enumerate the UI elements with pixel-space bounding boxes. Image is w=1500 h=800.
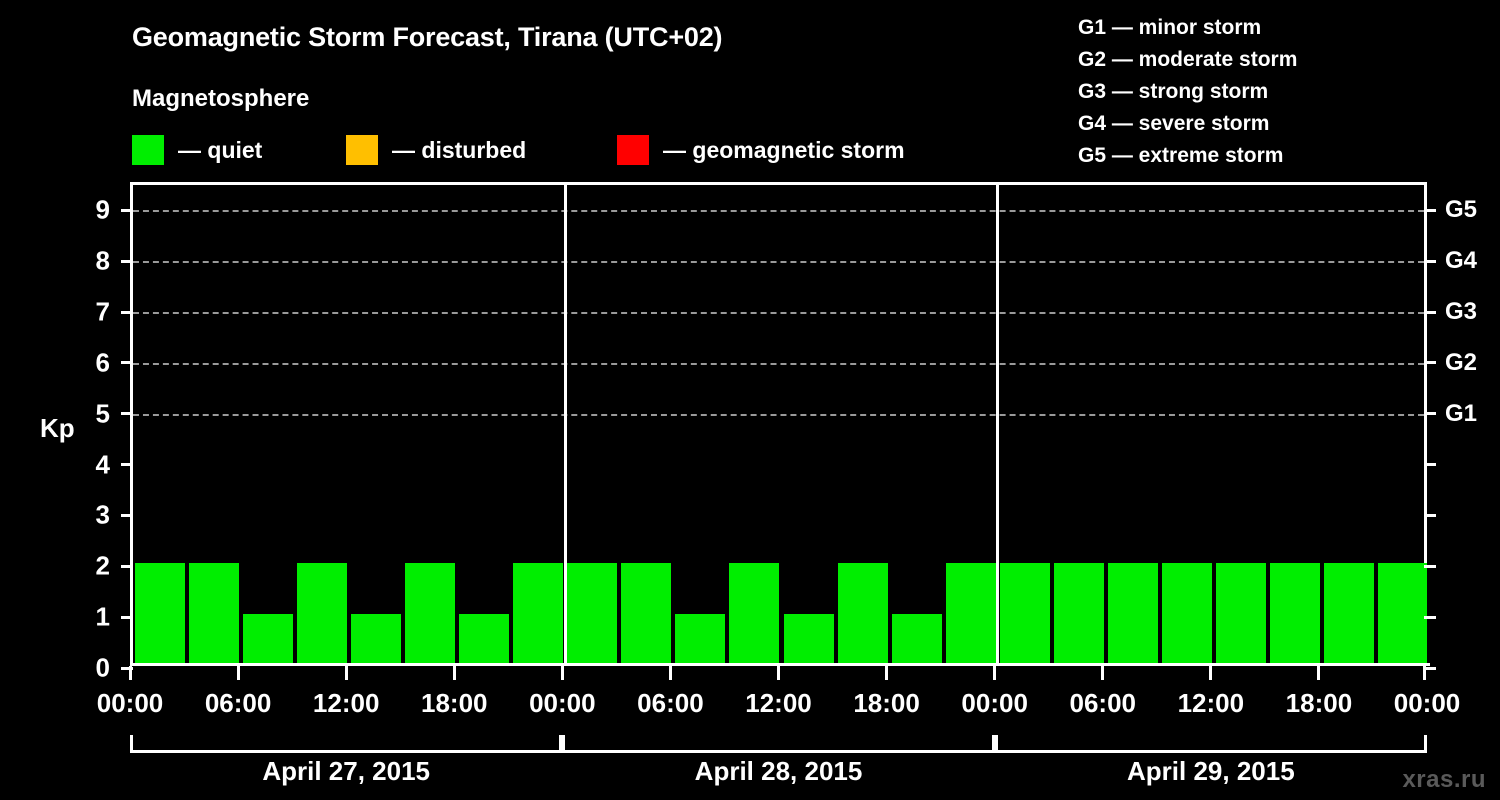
chart-canvas: Geomagnetic Storm Forecast, Tirana (UTC+… [0, 0, 1500, 800]
y-axis-label-3: 3 [70, 500, 110, 531]
y-tick-right-7 [1424, 311, 1436, 314]
x-axis-label-9: 06:00 [1070, 688, 1137, 719]
y-tick-right-2 [1424, 565, 1436, 568]
bar [405, 563, 455, 665]
bar [297, 563, 347, 665]
y-axis-label-1: 1 [70, 602, 110, 633]
y-tick-left-4 [121, 463, 133, 466]
bar [459, 614, 509, 665]
g-scale-legend: G1 — minor stormG2 — moderate stormG3 — … [1078, 12, 1297, 172]
bar [567, 563, 617, 665]
x-tick-5 [669, 666, 672, 680]
y2-axis-label-G5: G5 [1445, 196, 1500, 224]
g-scale-row-1: G1 — minor storm [1078, 12, 1297, 44]
day-bracket-1 [130, 735, 562, 753]
day-label-1: April 27, 2015 [262, 756, 430, 787]
g-scale-row-4: G4 — severe storm [1078, 108, 1297, 140]
day-bracket-2 [562, 735, 994, 753]
x-axis-label-0: 00:00 [97, 688, 164, 719]
x-axis-label-12: 00:00 [1394, 688, 1461, 719]
y-tick-right-6 [1424, 361, 1436, 364]
x-axis-label-2: 12:00 [313, 688, 380, 719]
y-axis-label-8: 8 [70, 246, 110, 277]
chart-subtitle: Magnetosphere [132, 85, 309, 113]
x-axis-label-6: 12:00 [745, 688, 812, 719]
bar [784, 614, 834, 665]
bar [1108, 563, 1158, 665]
x-axis-label-5: 06:00 [637, 688, 704, 719]
g-scale-row-3: G3 — strong storm [1078, 76, 1297, 108]
gridline-kp-6 [133, 363, 1424, 365]
day-label-2: April 28, 2015 [695, 756, 863, 787]
y-tick-right-9 [1424, 209, 1436, 212]
y-tick-left-8 [121, 260, 133, 263]
x-axis-label-1: 06:00 [205, 688, 272, 719]
bar [1162, 563, 1212, 665]
y-axis-label-9: 9 [70, 195, 110, 226]
g-scale-row-5: G5 — extreme storm [1078, 140, 1297, 172]
green-square-swatch [132, 135, 164, 165]
bar [135, 563, 185, 665]
gridline-kp-7 [133, 312, 1424, 314]
bar-series [133, 185, 1424, 665]
x-axis-label-4: 00:00 [529, 688, 596, 719]
bar [1324, 563, 1374, 665]
x-tick-11 [1317, 666, 1320, 680]
x-tick-3 [453, 666, 456, 680]
bar [892, 614, 942, 665]
x-axis-label-10: 12:00 [1178, 688, 1245, 719]
bar [621, 563, 671, 665]
y-axis-label-0: 0 [70, 653, 110, 684]
x-tick-1 [237, 666, 240, 680]
bar [729, 563, 779, 665]
day-bracket-3 [995, 735, 1427, 753]
x-tick-9 [1101, 666, 1104, 680]
x-tick-8 [993, 666, 996, 680]
watermark: xras.ru [1402, 766, 1486, 794]
y-tick-right-3 [1424, 514, 1436, 517]
bar [1378, 563, 1427, 665]
y2-axis-label-G1: G1 [1445, 400, 1500, 428]
day-divider-2 [996, 185, 999, 665]
gridline-kp-8 [133, 261, 1424, 263]
amber-square-swatch [346, 135, 378, 165]
bar [1000, 563, 1050, 665]
bar [189, 563, 239, 665]
g-scale-row-2: G2 — moderate storm [1078, 44, 1297, 76]
y-axis-label-7: 7 [70, 297, 110, 328]
red-square-swatch [617, 135, 649, 165]
bar [946, 563, 996, 665]
y-axis-label-5: 5 [70, 398, 110, 429]
x-axis-label-11: 18:00 [1286, 688, 1353, 719]
y-tick-left-6 [121, 361, 133, 364]
y-axis-label-4: 4 [70, 449, 110, 480]
y-tick-left-2 [121, 565, 133, 568]
y-tick-right-0 [1424, 667, 1436, 670]
bar [243, 614, 293, 665]
x-axis-label-7: 18:00 [853, 688, 920, 719]
legend-item-2: — geomagnetic storm [617, 134, 905, 166]
y-tick-right-5 [1424, 412, 1436, 415]
x-axis-label-3: 18:00 [421, 688, 488, 719]
legend-item-0: — quiet [132, 134, 262, 166]
y-tick-left-3 [121, 514, 133, 517]
y-tick-right-8 [1424, 260, 1436, 263]
plot-area: 0123456789G1G2G3G4G5 [130, 182, 1427, 665]
y-tick-left-7 [121, 311, 133, 314]
y-tick-left-9 [121, 209, 133, 212]
bar [513, 563, 563, 665]
y-axis-label-2: 2 [70, 551, 110, 582]
y2-axis-label-G4: G4 [1445, 247, 1500, 275]
x-tick-6 [777, 666, 780, 680]
y-axis-title: Kp [40, 413, 75, 444]
x-tick-12 [1423, 666, 1426, 680]
x-axis-line [130, 663, 1430, 666]
x-tick-4 [561, 666, 564, 680]
x-axis-label-8: 00:00 [961, 688, 1028, 719]
legend-item-label: — disturbed [392, 137, 526, 164]
x-tick-7 [885, 666, 888, 680]
y-tick-left-1 [121, 616, 133, 619]
x-tick-2 [345, 666, 348, 680]
y2-axis-label-G3: G3 [1445, 298, 1500, 326]
bar [1216, 563, 1266, 665]
day-label-3: April 29, 2015 [1127, 756, 1295, 787]
page-title: Geomagnetic Storm Forecast, Tirana (UTC+… [132, 22, 722, 53]
day-divider-1 [564, 185, 567, 665]
legend-item-1: — disturbed [346, 134, 526, 166]
gridline-kp-9 [133, 210, 1424, 212]
legend-item-label: — geomagnetic storm [663, 137, 905, 164]
bar [1270, 563, 1320, 665]
y-axis-label-6: 6 [70, 347, 110, 378]
bar [838, 563, 888, 665]
x-tick-0 [129, 666, 132, 680]
gridline-kp-5 [133, 414, 1424, 416]
y-tick-right-4 [1424, 463, 1436, 466]
y-tick-left-5 [121, 412, 133, 415]
legend-item-label: — quiet [178, 137, 262, 164]
bar [351, 614, 401, 665]
y-tick-right-1 [1424, 616, 1436, 619]
bar [1054, 563, 1104, 665]
y2-axis-label-G2: G2 [1445, 349, 1500, 377]
bar [675, 614, 725, 665]
x-tick-10 [1209, 666, 1212, 680]
